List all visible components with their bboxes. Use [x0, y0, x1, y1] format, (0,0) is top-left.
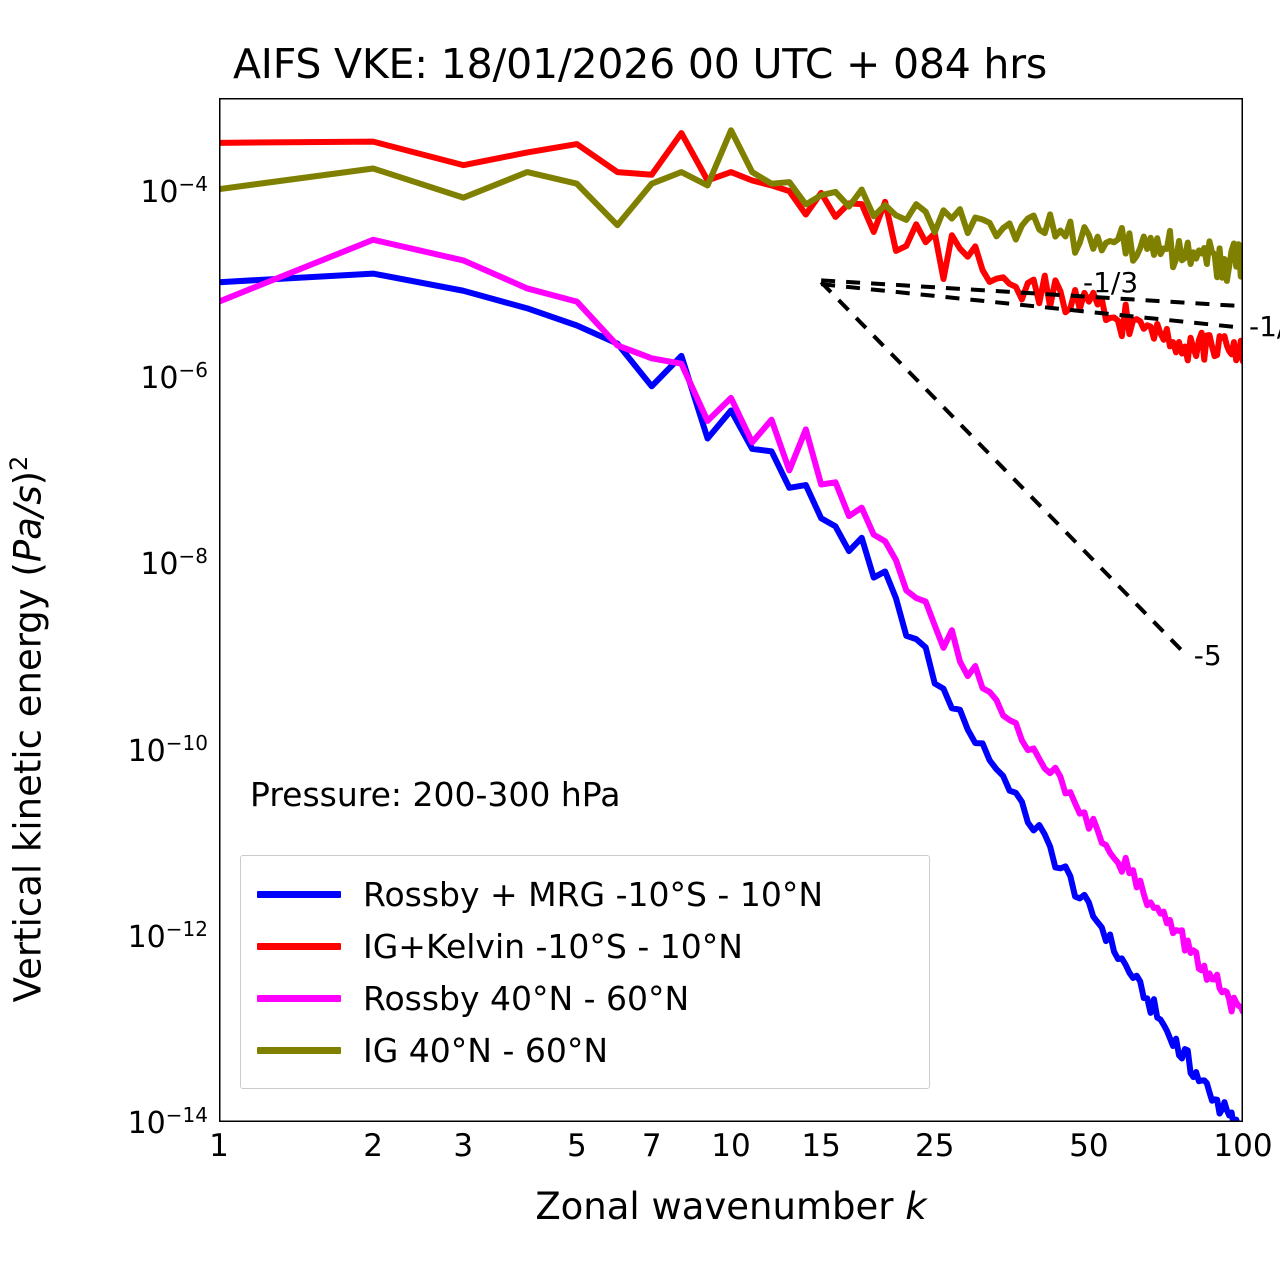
x-tick-label: 1	[209, 1128, 229, 1164]
legend-item[interactable]: Rossby + MRG -10°S - 10°N	[257, 868, 913, 920]
y-tick-label: 10−6	[140, 358, 208, 396]
legend-color-swatch	[257, 1047, 341, 1054]
y-tick-label: 10−12	[128, 917, 208, 955]
x-axis-label: Zonal wavenumber k	[219, 1185, 1243, 1228]
x-tick-label: 7	[642, 1128, 662, 1164]
x-tick-label: 25	[915, 1128, 954, 1164]
legend-item[interactable]: Rossby 40°N - 60°N	[257, 972, 913, 1024]
legend-item[interactable]: IG 40°N - 60°N	[257, 1024, 913, 1076]
x-tick-label: 10	[711, 1128, 750, 1164]
y-axis-tick-labels: 10−410−610−810−1010−1210−14	[0, 0, 208, 1288]
x-tick-label: 15	[801, 1128, 840, 1164]
y-tick-label: 10−10	[128, 731, 208, 769]
legend-label: IG+Kelvin -10°S - 10°N	[363, 930, 743, 963]
x-tick-label: 100	[1213, 1128, 1272, 1164]
legend-label: Rossby 40°N - 60°N	[363, 982, 689, 1015]
chart-legend: Rossby + MRG -10°S - 10°NIG+Kelvin -10°S…	[240, 855, 930, 1089]
x-tick-label: 50	[1069, 1128, 1108, 1164]
x-tick-label: 5	[567, 1128, 587, 1164]
x-tick-label: 2	[363, 1128, 383, 1164]
y-tick-label: 10−4	[140, 172, 208, 210]
pressure-annotation: Pressure: 200-300 hPa	[250, 775, 620, 814]
series-line	[219, 130, 1243, 281]
legend-color-swatch	[257, 891, 341, 898]
x-axis-label-main: Zonal wavenumber	[535, 1185, 905, 1228]
legend-color-swatch	[257, 943, 341, 950]
legend-label: Rossby + MRG -10°S - 10°N	[363, 878, 823, 911]
legend-item[interactable]: IG+Kelvin -10°S - 10°N	[257, 920, 913, 972]
legend-label: IG 40°N - 60°N	[363, 1034, 608, 1067]
x-tick-label: 3	[453, 1128, 473, 1164]
reference-line	[821, 282, 1188, 656]
reference-line	[821, 284, 1243, 328]
slope-label: -1/3	[1249, 310, 1280, 343]
legend-color-swatch	[257, 995, 341, 1002]
chart-figure: AIFS VKE: 18/01/2026 00 UTC + 084 hrs 10…	[0, 0, 1280, 1288]
slope-label: -5	[1194, 639, 1222, 672]
slope-label: -1/3	[1083, 266, 1138, 299]
x-axis-label-symbol: k	[905, 1185, 926, 1228]
y-tick-label: 10−8	[140, 544, 208, 582]
reference-lines-layer	[821, 280, 1243, 656]
y-tick-label: 10−14	[128, 1103, 208, 1141]
